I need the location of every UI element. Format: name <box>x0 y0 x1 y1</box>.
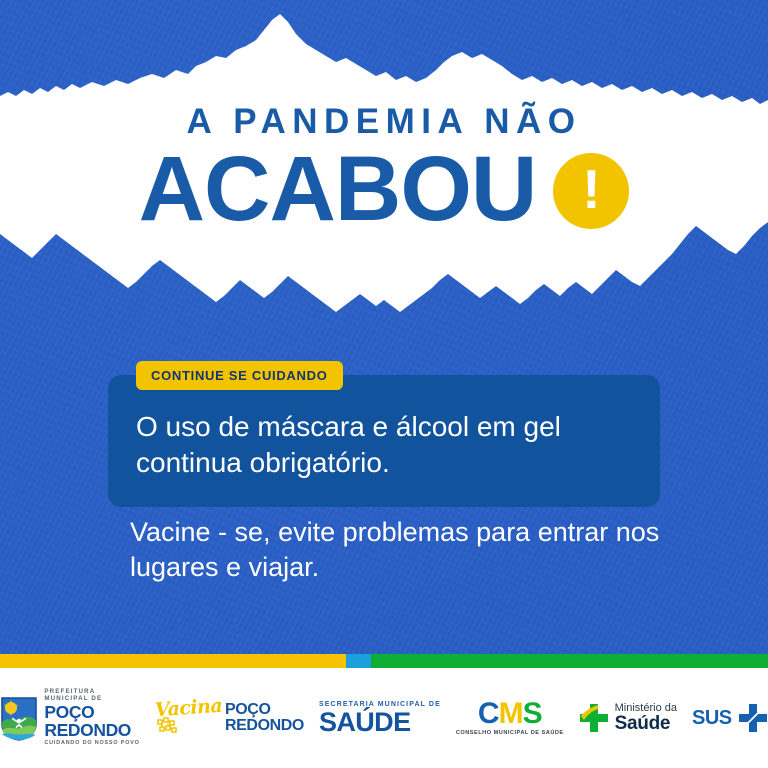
sus-cross-icon <box>738 703 768 733</box>
cms-letters: CMS <box>456 700 564 729</box>
logo-prefeitura-poco-redondo: PREFEITURA MUNICIPAL DE POÇO REDONDO CUI… <box>0 689 139 747</box>
ministerio-small-text: Ministério da <box>615 703 677 714</box>
footer-logo-bar: PREFEITURA MUNICIPAL DE POÇO REDONDO CUI… <box>0 668 768 768</box>
prefeitura-text-block: PREFEITURA MUNICIPAL DE POÇO REDONDO CUI… <box>44 689 139 747</box>
headline-shout-row: ACABOU ! <box>0 145 768 233</box>
headline-shout: ACABOU <box>139 145 537 233</box>
logo-secretaria-municipal-saude: SECRETARIA MUNICIPAL DE SAÚDE <box>319 701 441 735</box>
ministerio-big-text: Saúde <box>615 714 677 734</box>
health-cross-icon <box>579 703 609 733</box>
prefeitura-name2: REDONDO <box>44 722 139 740</box>
logo-vacina-poco-redondo: Vacina POÇO REDONDO <box>155 699 304 737</box>
coat-of-arms-shield-icon <box>0 696 38 741</box>
cms-text-block: CMS CONSELHO MUNICIPAL DE SAÚDE <box>456 700 564 736</box>
message-card: CONTINUE SE CUIDANDO O uso de máscara e … <box>108 375 660 507</box>
stripe-segment-yellow <box>0 654 346 668</box>
headline-kicker: A PANDEMIA NÃO <box>0 104 768 139</box>
logo-conselho-municipal-saude: CMS CONSELHO MUNICIPAL DE SAÚDE <box>456 700 564 736</box>
status-badge: CONTINUE SE CUIDANDO <box>136 361 343 390</box>
vacina-name1: POÇO <box>225 702 304 718</box>
vacina-text-block: POÇO REDONDO <box>225 702 304 735</box>
ministerio-text-block: Ministério da Saúde <box>615 703 677 734</box>
tricolor-stripe <box>0 654 768 668</box>
cms-letter-s: S <box>523 697 542 730</box>
sus-wordmark: SUS <box>692 707 732 730</box>
vacina-name2: REDONDO <box>225 718 304 734</box>
vacina-script-text: Vacina <box>154 697 222 720</box>
logo-sus: SUS <box>692 703 768 733</box>
stripe-segment-cyan <box>346 654 371 668</box>
vacina-mark-block: Vacina <box>155 699 222 737</box>
cms-subtitle: CONSELHO MUNICIPAL DE SAÚDE <box>456 731 564 737</box>
exclamation-badge-icon: ! <box>553 153 629 229</box>
stripe-segment-green <box>371 654 768 668</box>
logo-ministerio-da-saude: Ministério da Saúde <box>579 703 677 734</box>
secretaria-big-text: SAÚDE <box>319 709 441 735</box>
card-message-text: O uso de máscara e álcool em gel continu… <box>136 409 632 481</box>
cms-letter-m: M <box>499 697 523 730</box>
cms-letter-c: C <box>478 697 499 730</box>
exclamation-mark: ! <box>582 162 600 217</box>
secondary-message-text: Vacine - se, evite problemas para entrar… <box>130 515 690 585</box>
headline-block: A PANDEMIA NÃO ACABOU ! <box>0 104 768 233</box>
prefeitura-tagline: CUIDANDO DO NOSSO POVO <box>44 741 139 746</box>
secretaria-text-block: SECRETARIA MUNICIPAL DE SAÚDE <box>319 701 441 735</box>
poster-canvas: A PANDEMIA NÃO ACABOU ! CONTINUE SE CUID… <box>0 0 768 768</box>
prefeitura-name1: POÇO <box>44 704 139 722</box>
